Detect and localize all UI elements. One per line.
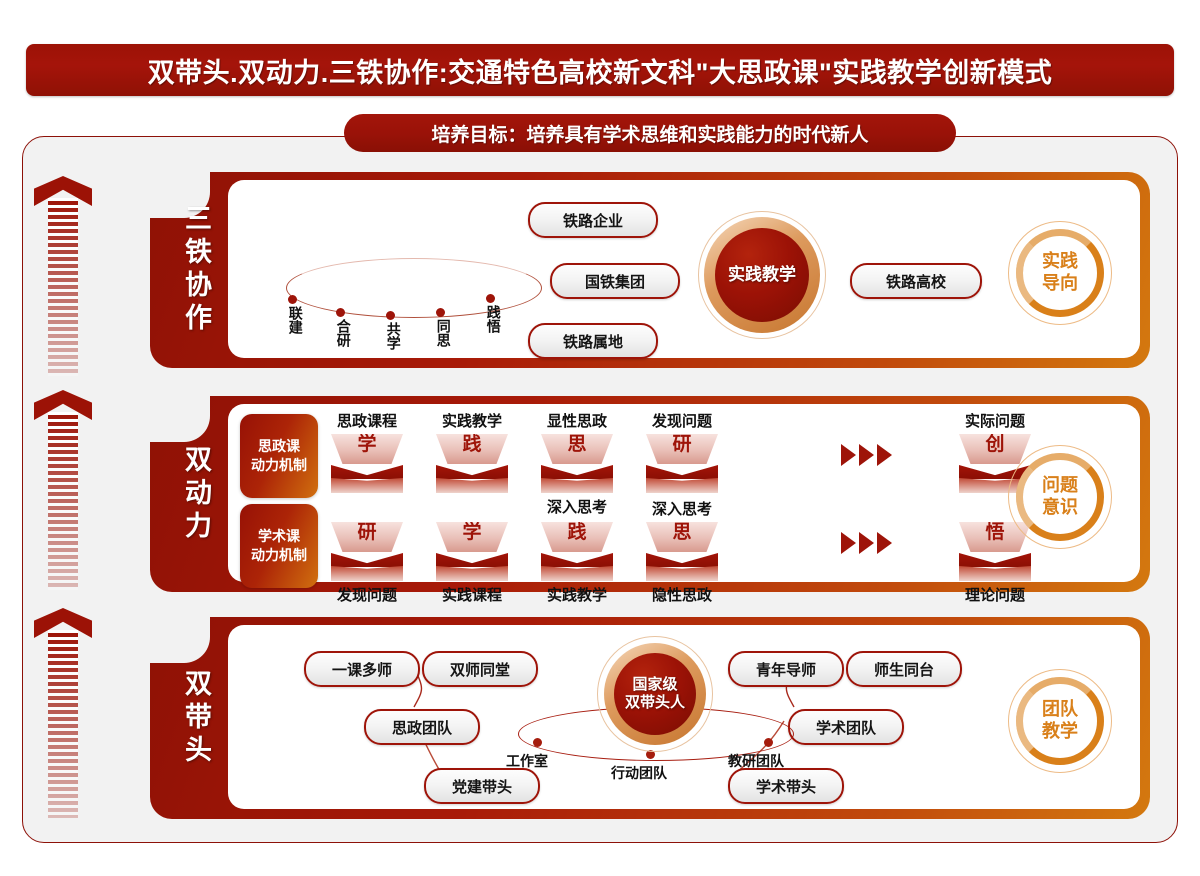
mechanism-tag-sizheng[interactable]: 思政课 动力机制 [240, 414, 318, 498]
box-step-top-4: 发现问题 研 [646, 434, 718, 493]
ellipse-node-label: 合研 [336, 319, 351, 347]
box-body [436, 465, 508, 493]
box-step-bottom-4: 深入思考 思 隐性思政 [646, 522, 718, 581]
box-step-bottom-1: 研 发现问题 [331, 522, 403, 581]
box-char: 学 [357, 435, 376, 455]
box-bottom-label: 实践教学 [527, 584, 627, 605]
box-step-top-3: 显性思政 思 深入思考 [541, 434, 613, 493]
box-step-bottom-2: 学 实践课程 [436, 522, 508, 581]
box-cap: 践 [436, 434, 508, 464]
box-body [541, 553, 613, 581]
arrow-triangle-icon [877, 444, 892, 466]
box-char: 悟 [985, 523, 1004, 543]
goal-banner-text: 培养目标：培养具有学术思维和实践能力的时代新人 [431, 120, 868, 147]
mechanism-line-2: 动力机制 [251, 546, 307, 565]
box-body [959, 553, 1031, 581]
box-char: 践 [462, 435, 481, 455]
box-top-label: 思政课程 [317, 410, 417, 431]
pill-xueshu-daitou[interactable]: 学术带头 [728, 768, 844, 804]
pill-xueshu-tuandui[interactable]: 学术团队 [788, 709, 904, 745]
ring-line-1: 团队 [1042, 699, 1078, 721]
ring-line-1: 实践 [1042, 251, 1078, 273]
collaboration-ellipse [286, 258, 542, 318]
arrow-shaft [48, 198, 78, 376]
triple-arrow-bottom [841, 532, 892, 554]
orbit-node-label: 工作室 [506, 751, 548, 771]
row-card-santie: 三铁协作 联建 合研 共学 同思 践悟 铁路企业 国铁集团 铁路属地 铁路高校 [150, 172, 1150, 368]
box-top-label: 发现问题 [632, 410, 732, 431]
box-char: 创 [985, 435, 1004, 455]
pill-yike-duoshi[interactable]: 一课多师 [304, 651, 420, 687]
outcome-ring-tuandui-jiaoxue: 团队 教学 [1008, 669, 1112, 773]
box-top-label: 实践教学 [422, 410, 522, 431]
box-cap: 研 [646, 434, 718, 464]
goal-banner: 培养目标：培养具有学术思维和实践能力的时代新人 [344, 114, 956, 152]
box-cap: 思 [541, 434, 613, 464]
arrow-shaft [48, 412, 78, 590]
ellipse-node-dot [336, 308, 345, 317]
core-circle-shijian-jiaoxue: 实践教学 [704, 217, 820, 333]
box-body [541, 465, 613, 493]
core-center: 国家级 双带头人 [614, 653, 696, 735]
ring-line-1: 问题 [1042, 475, 1078, 497]
box-step-top-1: 思政课程 学 [331, 434, 403, 493]
box-step-top-2: 实践教学 践 [436, 434, 508, 493]
ring-line-2: 意识 [1042, 497, 1078, 519]
ring-text: 问题 意识 [1008, 445, 1112, 549]
arrow-triangle-icon [877, 532, 892, 554]
core-line-2: 双带头人 [625, 694, 685, 712]
box-cap: 践 [541, 522, 613, 552]
box-cap: 研 [331, 522, 403, 552]
orbit-node-label: 行动团队 [611, 763, 667, 783]
box-cap: 学 [436, 522, 508, 552]
ring-text: 实践 导向 [1008, 221, 1112, 325]
box-cap: 学 [331, 434, 403, 464]
pill-tielu-shudi[interactable]: 铁路属地 [528, 323, 658, 359]
row-label-shuangdaitou: 双带头 [164, 617, 226, 819]
triple-arrow-top [841, 444, 892, 466]
box-body [436, 553, 508, 581]
core-label: 实践教学 [728, 265, 796, 285]
mechanism-line-1: 思政课 [251, 437, 307, 456]
pill-shisheng-tongtai[interactable]: 师生同台 [846, 651, 962, 687]
box-char: 思 [672, 523, 691, 543]
box-char: 研 [672, 435, 691, 455]
row-content-santie: 联建 合研 共学 同思 践悟 铁路企业 国铁集团 铁路属地 铁路高校 实践教 [228, 180, 1140, 358]
ellipse-node-dot [288, 295, 297, 304]
orbit-node-dot [533, 738, 542, 747]
box-char: 践 [567, 523, 586, 543]
ladder-arrow-1 [44, 176, 82, 376]
ellipse-node-label: 联建 [288, 306, 303, 334]
row-card-shuangdongli: 双动力 思政课 动力机制 学术课 动力机制 思政课程 学 [150, 396, 1150, 592]
ladder-arrow-3 [44, 608, 82, 818]
pill-sizheng-tuandui[interactable]: 思政团队 [364, 709, 480, 745]
box-top-label: 深入思考 [632, 498, 732, 519]
box-bottom-label: 理论问题 [945, 584, 1045, 605]
mechanism-line-1: 学术课 [251, 527, 307, 546]
ellipse-node-label: 共学 [386, 322, 401, 350]
row-label-shuangdongli: 双动力 [164, 396, 226, 592]
box-top-label: 实际问题 [945, 410, 1045, 431]
pill-tielu-qiye[interactable]: 铁路企业 [528, 202, 658, 238]
ellipse-node-label: 同思 [436, 319, 451, 347]
box-char: 研 [357, 523, 376, 543]
ellipse-node-label: 践悟 [486, 305, 501, 333]
outcome-ring-wenti-yishi: 问题 意识 [1008, 445, 1112, 549]
row-content-shuangdongli: 思政课 动力机制 学术课 动力机制 思政课程 学 实践教学 践 [228, 404, 1140, 582]
core-line-1: 国家级 [632, 676, 677, 694]
box-body [646, 465, 718, 493]
box-char: 学 [462, 523, 481, 543]
core-center: 实践教学 [715, 228, 809, 322]
mechanism-line-2: 动力机制 [251, 456, 307, 475]
row-content-shuangdaitou: 一课多师 双师同堂 思政团队 党建带头 青年导师 师生同台 学术团队 学术带头 … [228, 625, 1140, 809]
row-label-santie: 三铁协作 [164, 172, 226, 368]
box-char: 思 [567, 435, 586, 455]
ellipse-node-dot [486, 294, 495, 303]
pill-dangjian-daitou[interactable]: 党建带头 [424, 768, 540, 804]
ladder-arrow-2 [44, 390, 82, 590]
pill-qingnian-daoshi[interactable]: 青年导师 [728, 651, 844, 687]
ring-text: 团队 教学 [1008, 669, 1112, 773]
arrow-shaft [48, 630, 78, 818]
arrow-triangle-icon [859, 532, 874, 554]
infographic-canvas: 双带头.双动力.三铁协作:交通特色高校新文科"大思政课"实践教学创新模式 培养目… [0, 0, 1200, 876]
box-body [331, 465, 403, 493]
page-title: 双带头.双动力.三铁协作:交通特色高校新文科"大思政课"实践教学创新模式 [26, 44, 1174, 96]
row-card-shuangdaitou: 双带头 一课多师 双师同堂 思政团队 党建带头 青年导师 师生同台 学术团队 学… [150, 617, 1150, 819]
arrow-triangle-icon [841, 532, 856, 554]
pill-shuangshi-tongtang[interactable]: 双师同堂 [422, 651, 538, 687]
box-bottom-label: 隐性思政 [632, 584, 732, 605]
outcome-ring-shijian-daoxiang: 实践 导向 [1008, 221, 1112, 325]
ring-line-2: 导向 [1042, 273, 1078, 295]
box-top-label: 显性思政 [527, 410, 627, 431]
ring-line-2: 教学 [1042, 721, 1078, 743]
box-bottom-label: 发现问题 [317, 584, 417, 605]
orbit-node-label: 教研团队 [728, 751, 784, 771]
box-bottom-label: 深入思考 [527, 496, 627, 517]
mechanism-tag-xueshu[interactable]: 学术课 动力机制 [240, 504, 318, 588]
box-cap: 思 [646, 522, 718, 552]
ellipse-node-dot [436, 308, 445, 317]
box-step-bottom-3: 践 实践教学 [541, 522, 613, 581]
ellipse-node-dot [386, 311, 395, 320]
box-body [331, 553, 403, 581]
box-bottom-label: 实践课程 [422, 584, 522, 605]
orbit-node-dot [764, 738, 773, 747]
arrow-triangle-icon [859, 444, 874, 466]
core-circle-guojiaji: 国家级 双带头人 [604, 643, 706, 745]
box-body [646, 553, 718, 581]
arrow-triangle-icon [841, 444, 856, 466]
page-title-text: 双带头.双动力.三铁协作:交通特色高校新文科"大思政课"实践教学创新模式 [148, 51, 1053, 90]
